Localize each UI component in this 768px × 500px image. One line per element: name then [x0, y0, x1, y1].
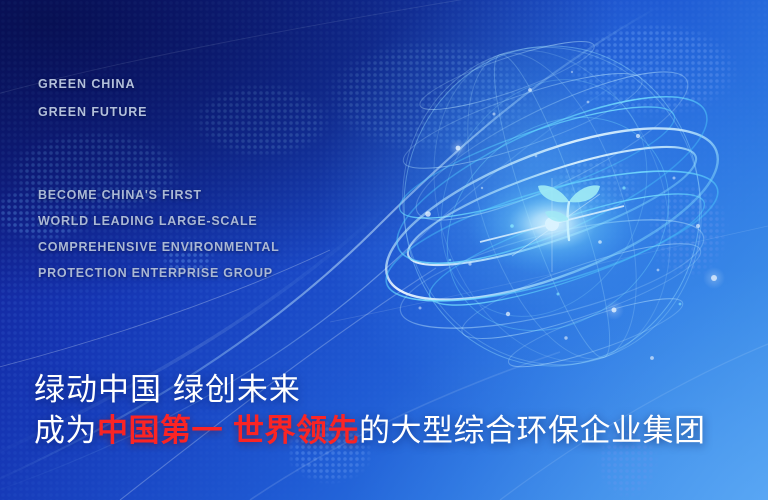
- tagline-line-3: COMPREHENSIVE ENVIRONMENTAL: [38, 234, 280, 260]
- headline-prefix: 成为: [34, 413, 97, 449]
- wireframe-globe: [362, 28, 734, 388]
- tagline-line-2: WORLD LEADING LARGE-SCALE: [38, 208, 280, 234]
- headline-suffix: 的大型综合环保企业集团: [359, 413, 706, 449]
- headline-line-1: 绿动中国 绿创未来: [34, 370, 754, 410]
- eyebrow-text: GREEN CHINA GREEN FUTURE: [38, 70, 147, 126]
- tagline-line-4: PROTECTION ENTERPRISE GROUP: [38, 260, 280, 286]
- headline-highlight-china-first: 中国第一: [97, 413, 223, 449]
- headline-line-2: 成为中国第一世界领先的大型综合环保企业集团: [34, 410, 754, 452]
- tagline-line-1: BECOME CHINA'S FIRST: [38, 182, 280, 208]
- headline: 绿动中国 绿创未来 成为中国第一世界领先的大型综合环保企业集团: [34, 370, 754, 452]
- headline-highlight-world-leading: 世界领先: [233, 413, 359, 449]
- sprout-icon: [534, 178, 604, 244]
- tagline-text: BECOME CHINA'S FIRST WORLD LEADING LARGE…: [38, 182, 280, 286]
- eyebrow-line-2: GREEN FUTURE: [38, 98, 147, 126]
- eyebrow-line-1: GREEN CHINA: [38, 70, 147, 98]
- promo-banner: GREEN CHINA GREEN FUTURE BECOME CHINA'S …: [0, 0, 768, 500]
